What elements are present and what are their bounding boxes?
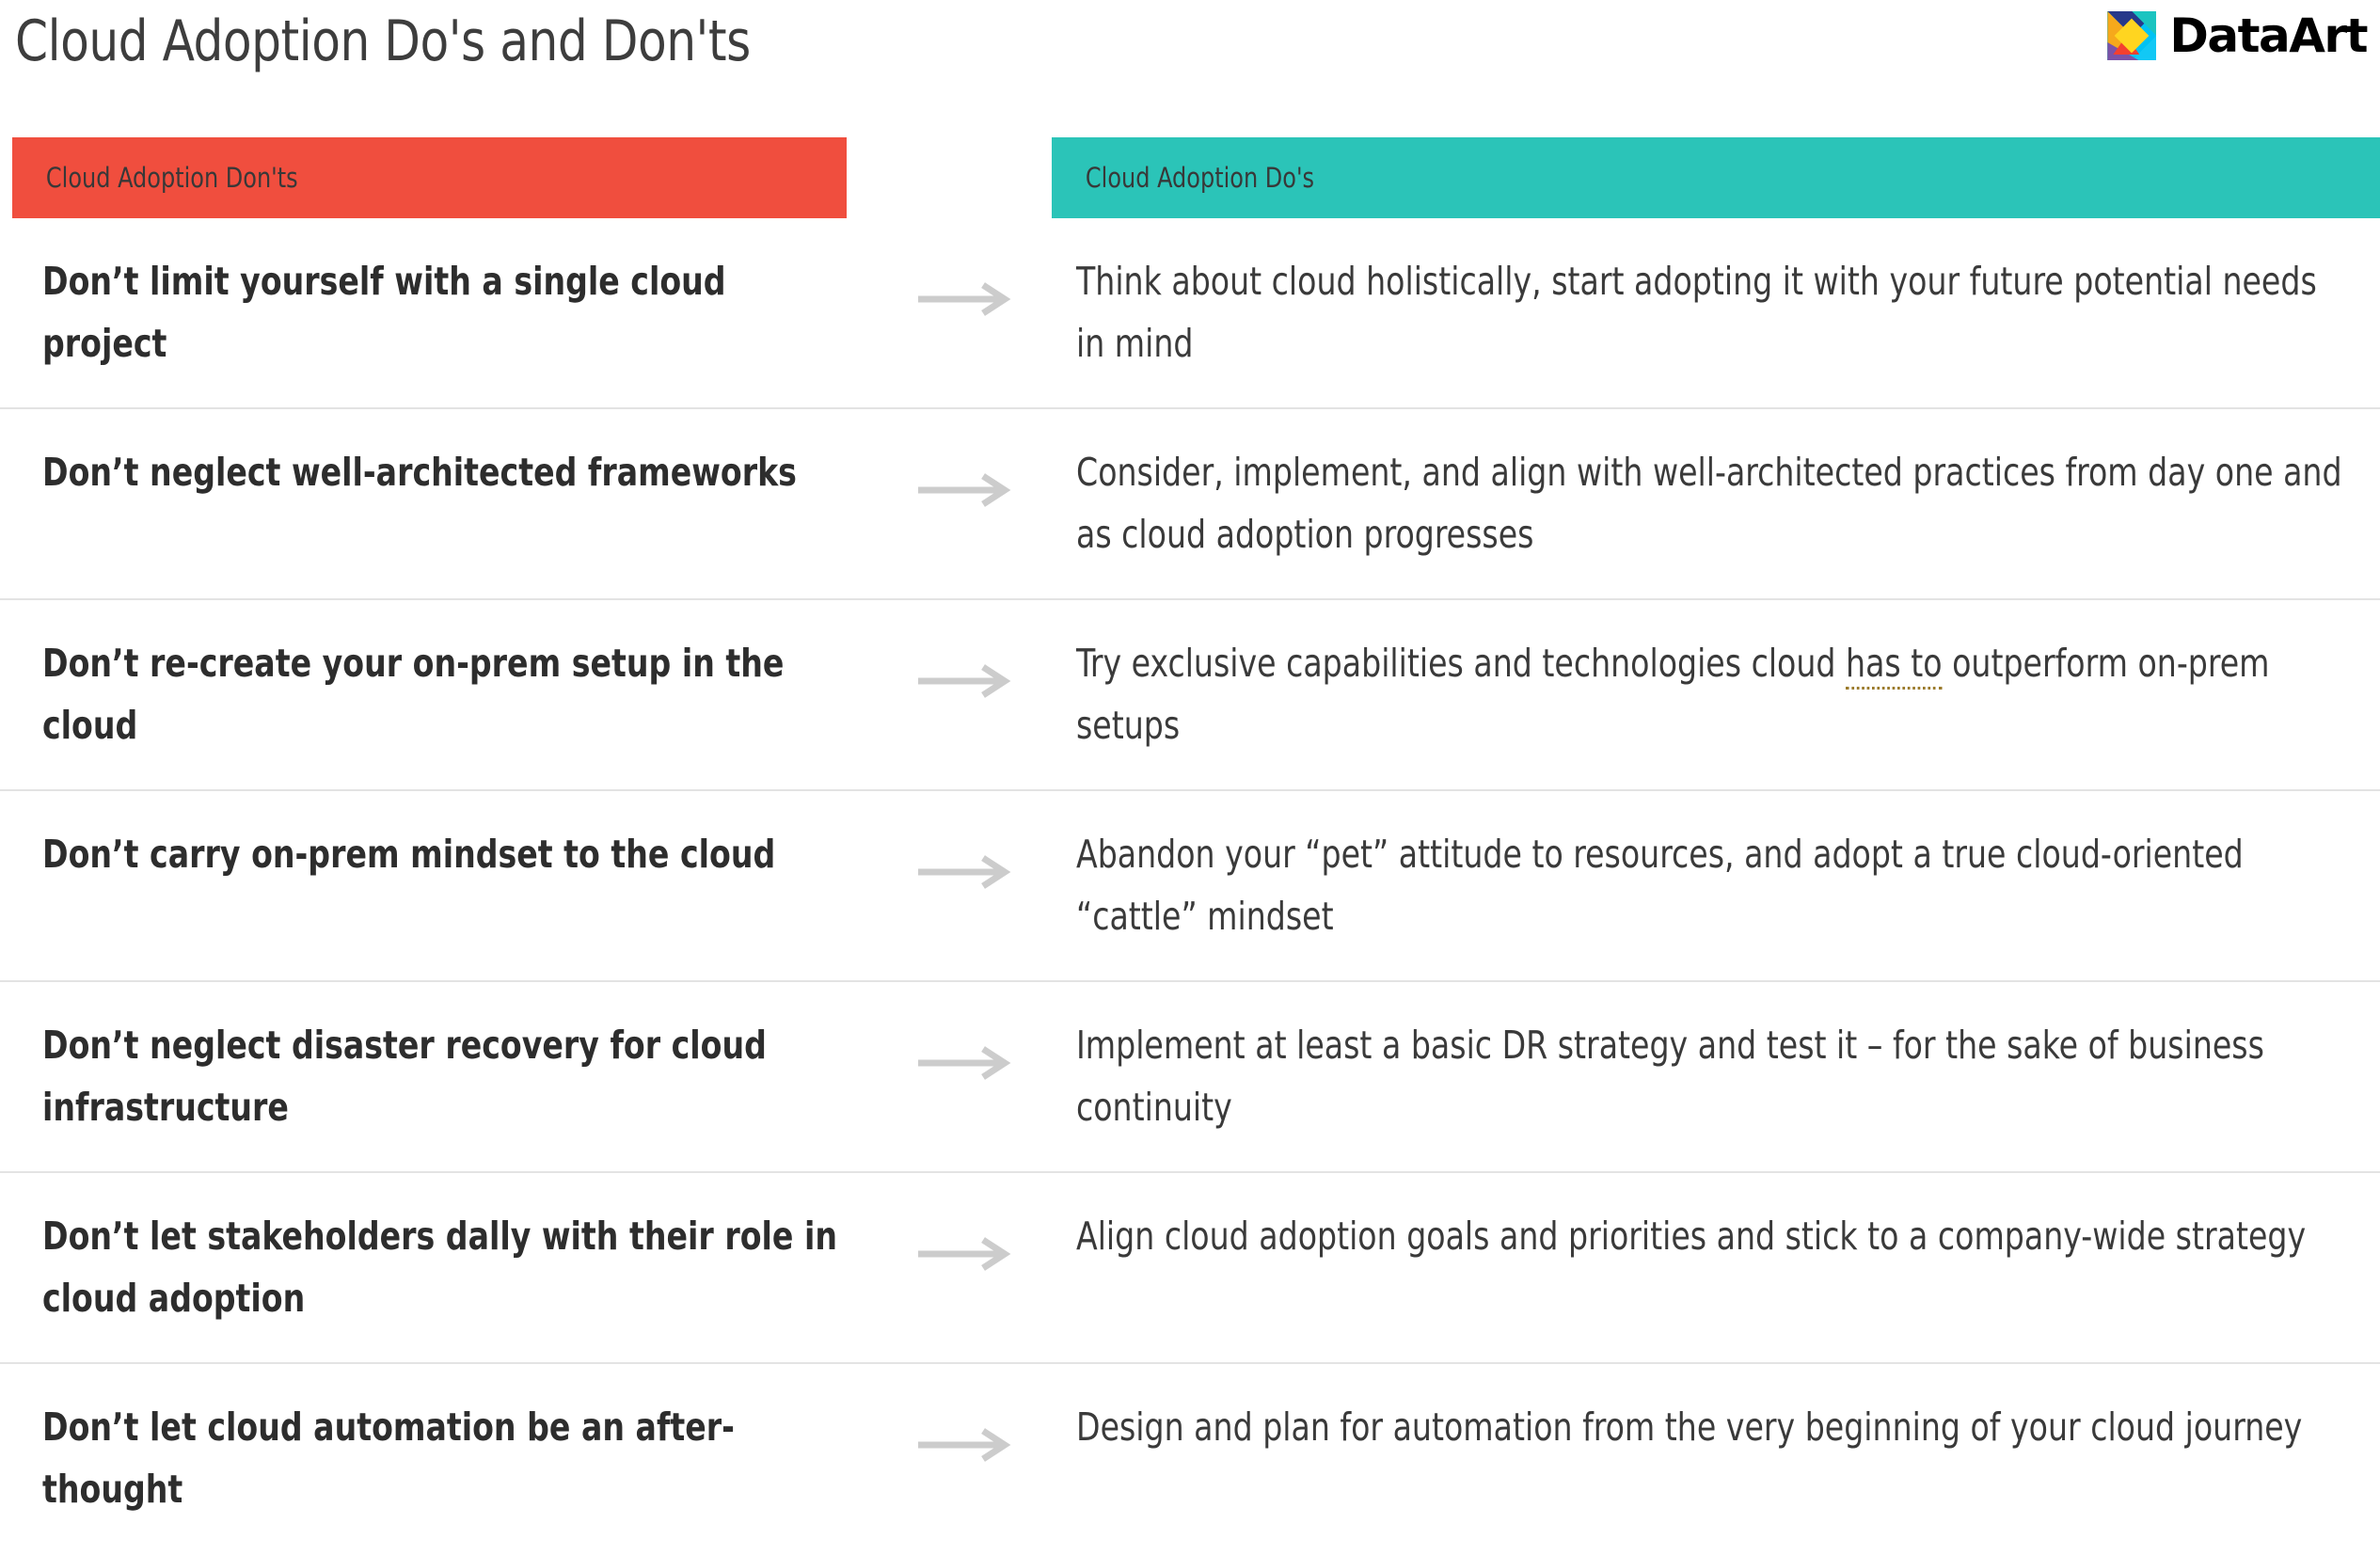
dos-column-label: Cloud Adoption Do's [1052,162,1314,194]
arrow-right-icon [918,1044,1020,1082]
dont-cell: Don’t neglect disaster recovery for clou… [0,982,884,1138]
arrow-cell [884,982,1054,1082]
arrow-cell [884,600,1054,700]
do-text: Think about cloud holistically, start ad… [1076,250,2351,374]
page-header: Cloud Adoption Do's and Don'ts DataArt [0,0,2380,132]
arrow-cell [884,1364,1054,1464]
table-row: Don’t re-create your on-prem setup in th… [0,600,2380,791]
spellcheck-marked-text: has to [1846,641,1943,690]
do-text-part: Align cloud adoption goals and prioritie… [1076,1214,2306,1259]
do-text-part: Implement at least a basic DR strategy a… [1076,1023,2264,1130]
arrow-cell [884,791,1054,891]
do-text: Abandon your “pet” attitude to resources… [1076,823,2351,947]
arrow-right-icon [918,471,1020,509]
page-title: Cloud Adoption Do's and Don'ts [15,8,751,75]
do-cell: Abandon your “pet” attitude to resources… [1054,791,2380,947]
do-text: Implement at least a basic DR strategy a… [1076,1014,2351,1138]
table-row: Don’t let stakeholders dally with their … [0,1173,2380,1364]
arrow-right-icon [918,1235,1020,1273]
donts-column-label: Cloud Adoption Don'ts [12,162,298,194]
dont-cell: Don’t carry on-prem mindset to the cloud [0,791,884,885]
arrow-right-icon [918,1426,1020,1464]
do-text-part: Consider, implement, and align with well… [1076,450,2342,557]
do-text-part: Design and plan for automation from the … [1076,1404,2302,1450]
do-text-part: Abandon your “pet” attitude to resources… [1076,832,2244,939]
dont-text: Don’t limit yourself with a single cloud… [42,250,846,374]
table-row: Don’t let cloud automation be an after-t… [0,1364,2380,1555]
arrow-right-icon [918,853,1020,891]
do-text-part: Think about cloud holistically, start ad… [1076,259,2317,366]
arrow-cell [884,1173,1054,1273]
dos-column-header: Cloud Adoption Do's [1052,137,2380,218]
brand-name: DataArt [2169,11,2367,60]
do-text: Design and plan for automation from the … [1076,1396,2351,1458]
do-cell: Think about cloud holistically, start ad… [1054,218,2380,374]
table-row: Don’t neglect disaster recovery for clou… [0,982,2380,1173]
do-text: Consider, implement, and align with well… [1076,441,2351,565]
dataart-logo-icon [2107,11,2156,60]
brand-logo: DataArt [2107,11,2367,60]
dont-text: Don’t carry on-prem mindset to the cloud [42,823,846,885]
donts-column-header: Cloud Adoption Don'ts [12,137,847,218]
do-cell: Implement at least a basic DR strategy a… [1054,982,2380,1138]
do-text-part: Try exclusive capabilities and technolog… [1076,641,1846,686]
dont-text: Don’t neglect well-architected framework… [42,441,846,503]
dont-text: Don’t let stakeholders dally with their … [42,1205,846,1329]
dont-text: Don’t re-create your on-prem setup in th… [42,632,846,756]
dont-cell: Don’t let cloud automation be an after-t… [0,1364,884,1520]
dont-cell: Don’t let stakeholders dally with their … [0,1173,884,1329]
dont-cell: Don’t re-create your on-prem setup in th… [0,600,884,756]
do-text: Align cloud adoption goals and prioritie… [1076,1205,2351,1267]
table-row: Don’t limit yourself with a single cloud… [0,218,2380,409]
do-cell: Consider, implement, and align with well… [1054,409,2380,565]
dont-cell: Don’t neglect well-architected framework… [0,409,884,503]
arrow-cell [884,409,1054,509]
arrow-cell [884,218,1054,318]
dont-text: Don’t neglect disaster recovery for clou… [42,1014,846,1138]
do-text: Try exclusive capabilities and technolog… [1076,632,2351,756]
column-header-bars: Cloud Adoption Don'ts Cloud Adoption Do'… [0,137,2380,218]
table-row: Don’t neglect well-architected framework… [0,409,2380,600]
do-cell: Design and plan for automation from the … [1054,1364,2380,1458]
arrow-right-icon [918,280,1020,318]
dos-donts-matrix: Don’t limit yourself with a single cloud… [0,218,2380,1555]
do-cell: Try exclusive capabilities and technolog… [1054,600,2380,756]
do-cell: Align cloud adoption goals and prioritie… [1054,1173,2380,1267]
dont-text: Don’t let cloud automation be an after-t… [42,1396,846,1520]
table-row: Don’t carry on-prem mindset to the cloud… [0,791,2380,982]
arrow-right-icon [918,662,1020,700]
dont-cell: Don’t limit yourself with a single cloud… [0,218,884,374]
